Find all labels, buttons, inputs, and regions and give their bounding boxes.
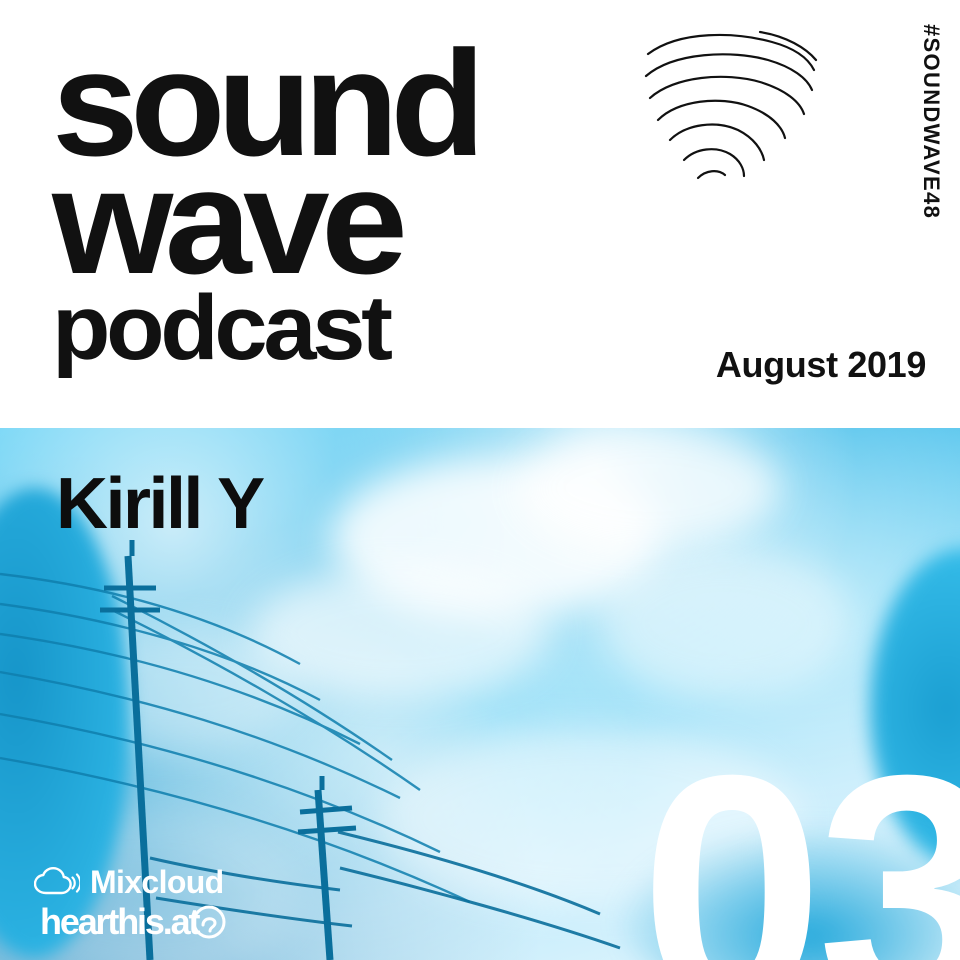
platform-list: Mixcloud hearthis.at [34,862,354,942]
cover-photo-panel: Kirill Y 03 Mixcloud hearthis.at [0,428,960,960]
platform-item-hearthis[interactable]: hearthis.at [34,902,354,942]
mixcloud-cloud-icon [34,867,80,897]
hashtag-label: #SOUNDWAVE48 [918,24,944,219]
sound-wave-lines-icon [640,26,820,196]
header-panel: sound wave podcast #SOUNDWAVE48 August 2… [0,0,960,428]
issue-date: August 2019 [716,344,926,386]
platform-item-mixcloud[interactable]: Mixcloud [34,862,354,902]
platform-label: Mixcloud [90,864,224,901]
brand-wordmark: sound wave podcast [52,40,672,367]
brand-line-podcast: podcast [52,290,697,367]
podcast-cover-artwork: sound wave podcast #SOUNDWAVE48 August 2… [0,0,960,960]
hearthis-ear-icon [192,905,226,939]
artist-name: Kirill Y [56,468,263,540]
episode-number: 03 [640,726,960,960]
brand-line-wave: wave [52,158,697,284]
platform-label: hearthis.at [40,901,198,943]
